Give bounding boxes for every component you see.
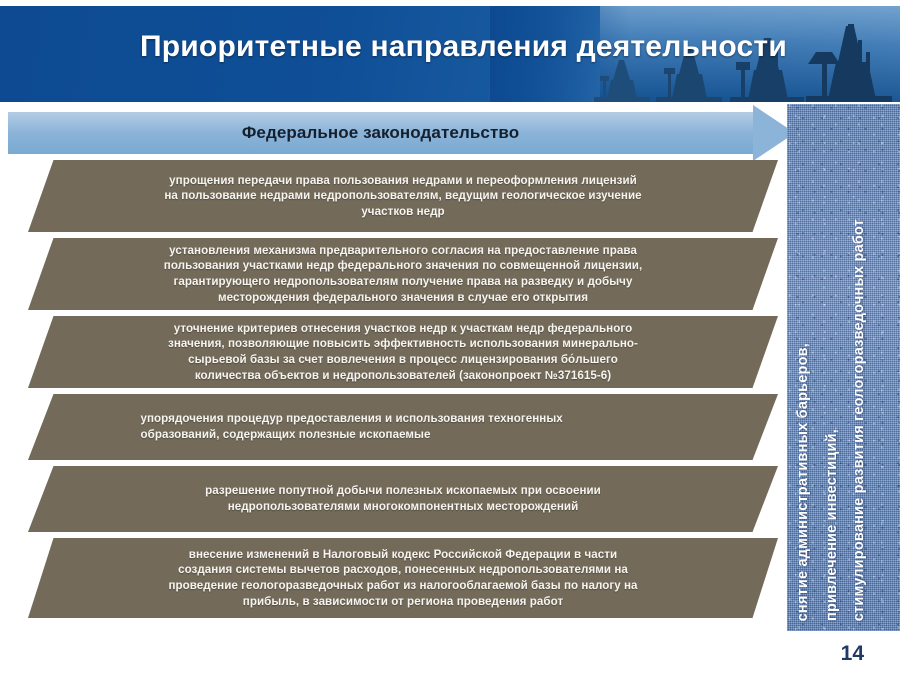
- page-number: 14: [841, 642, 864, 666]
- side-panel-line-2: привлечение инвестиций,: [824, 429, 840, 621]
- page-title: Приоритетные направления деятельности: [140, 30, 787, 64]
- content-block-6: внесение изменений в Налоговый кодекс Ро…: [28, 538, 778, 618]
- oil-pumpjack-icon: [594, 58, 650, 102]
- content-block-6-text: внесение изменений в Налоговый кодекс Ро…: [96, 547, 711, 609]
- section-arrow-label: Федеральное законодательство: [8, 112, 753, 154]
- content-block-2: установления механизма предварительного …: [28, 238, 778, 310]
- side-panel-line-3: стимулирование развития геологоразведочн…: [851, 219, 867, 621]
- content-block-3: уточнение критериев отнесения участков н…: [28, 316, 778, 388]
- side-panel: снятие административных барьеров, привле…: [787, 104, 900, 631]
- content-block-1-text: упрощения передачи права пользования нед…: [96, 173, 711, 220]
- content-block-3-text: уточнение критериев отнесения участков н…: [96, 321, 711, 383]
- side-panel-line-1: снятие административных барьеров,: [795, 343, 811, 621]
- content-block-4-text: упорядочения процедур предоставления и и…: [96, 411, 711, 442]
- oil-pumpjack-icon: [806, 22, 892, 102]
- content-block-5: разрешение попутной добычи полезных иско…: [28, 466, 778, 532]
- content-block-2-text: установления механизма предварительного …: [96, 243, 711, 305]
- content-block-5-text: разрешение попутной добычи полезных иско…: [96, 483, 711, 514]
- section-arrow-banner: Федеральное законодательство: [8, 112, 788, 154]
- content-block-4: упорядочения процедур предоставления и и…: [28, 394, 778, 460]
- slide-header-banner: Приоритетные направления деятельности: [0, 6, 900, 102]
- content-block-1: упрощения передачи права пользования нед…: [28, 160, 778, 232]
- slide-canvas: Приоритетные направления деятельности Фе…: [0, 0, 900, 678]
